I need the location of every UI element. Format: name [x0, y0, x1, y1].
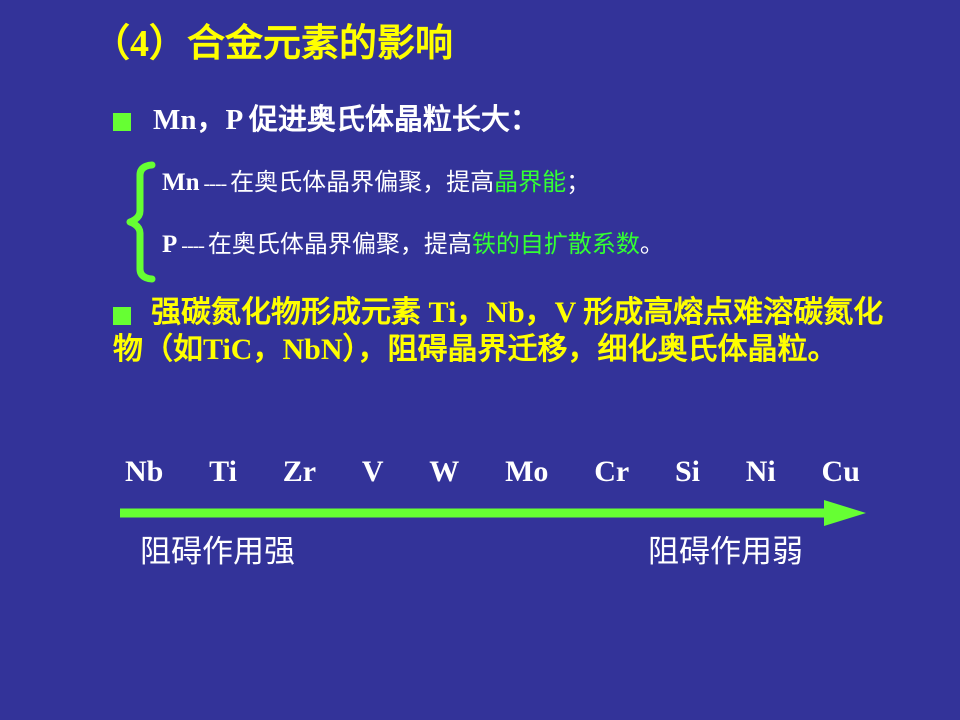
element-label-mo: Mo: [505, 455, 548, 489]
brace-line-p-punct: 。: [640, 232, 664, 258]
element-label-w: W: [429, 455, 459, 489]
brace-line-p: P ---- 在奥氏体晶界偏聚，提高铁的自扩散系数。: [162, 231, 664, 259]
dash-separator-p: ----: [177, 235, 208, 257]
element-label-cu: Cu: [822, 455, 860, 489]
brace-line-mn: Mn ---- 在奥氏体晶界偏聚，提高晶界能；: [162, 169, 590, 197]
caption-weak-effect: 阻碍作用弱: [648, 533, 803, 570]
brace-line-p-text: 在奥氏体晶界偏聚，提高: [208, 232, 472, 258]
square-bullet-icon: [113, 113, 131, 131]
caption-strong-effect: 阻碍作用强: [140, 533, 295, 570]
element-label-cr: Cr: [594, 455, 629, 489]
dash-separator-mn: ----: [200, 173, 231, 195]
bullet-item-mn-p: Mn，P 促进奥氏体晶粒长大：: [113, 104, 539, 137]
brace-line-mn-punct: ；: [566, 170, 590, 196]
element-scale-row: Nb Ti Zr V W Mo Cr Si Ni Cu: [125, 455, 860, 489]
page-title: （4）合金元素的影响: [92, 24, 453, 66]
element-symbol-p: P: [162, 231, 177, 258]
brace-line-mn-text: 在奥氏体晶界偏聚，提高: [230, 170, 494, 196]
bullet-item-carbonitride-label: 强碳氮化物形成元素 Ti，Nb，V 形成高熔点难溶碳氮化物（如TiC，NbN），…: [113, 294, 903, 368]
element-symbol-mn: Mn: [162, 169, 200, 196]
element-label-v: V: [362, 455, 384, 489]
slide-canvas: （4）合金元素的影响 Mn，P 促进奥氏体晶粒长大： Mn ---- 在奥氏体晶…: [0, 0, 960, 720]
element-label-ni: Ni: [746, 455, 776, 489]
brace-line-mn-highlight: 晶界能: [494, 170, 566, 196]
element-label-nb: Nb: [125, 455, 163, 489]
right-arrow-icon: [118, 496, 868, 530]
bullet-item-mn-p-label: Mn，P 促进奥氏体晶粒长大：: [153, 104, 539, 137]
brace-line-p-highlight: 铁的自扩散系数: [472, 232, 640, 258]
element-label-si: Si: [675, 455, 700, 489]
element-label-ti: Ti: [209, 455, 237, 489]
element-label-zr: Zr: [283, 455, 316, 489]
curly-brace-icon: [122, 149, 162, 295]
brace-group: Mn ---- 在奥氏体晶界偏聚，提高晶界能； P ---- 在奥氏体晶界偏聚，…: [122, 163, 862, 281]
